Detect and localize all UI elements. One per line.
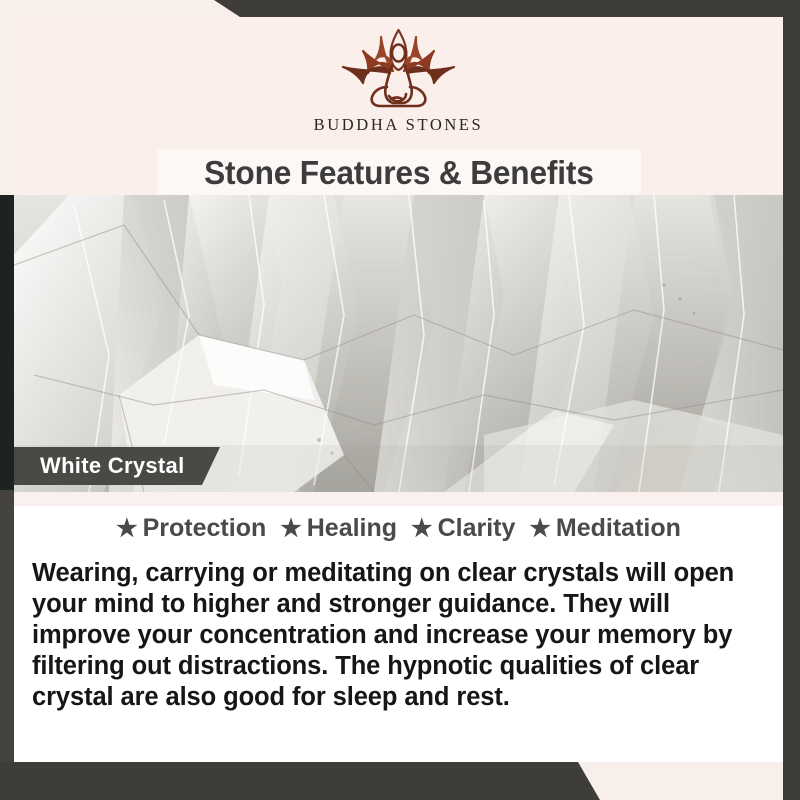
benefit-item-healing: ★ Healing [280,514,397,543]
photo-left-edge-accent [0,195,14,495]
infographic-page: BUDDHA STONES Stone Features & Benefits [0,0,800,800]
content-section: ★ Protection ★ Healing ★ Clarity ★ Medit… [14,492,783,762]
right-edge-accent [783,17,800,800]
benefits-list: ★ Protection ★ Healing ★ Clarity ★ Medit… [14,514,783,543]
benefit-item-meditation: ★ Meditation [529,514,681,543]
page-title: Stone Features & Benefits [204,154,594,192]
star-icon: ★ [280,517,302,541]
brand-logo: BUDDHA STONES [14,25,783,135]
star-icon: ★ [116,517,138,541]
star-icon: ★ [529,517,551,541]
benefit-item-protection: ★ Protection [116,514,266,543]
bottom-edge-accent [0,762,800,800]
photo-caption-badge: White Crystal [14,447,220,485]
benefit-item-clarity: ★ Clarity [411,514,515,543]
benefit-label: Protection [143,514,267,543]
benefit-label: Healing [307,514,397,543]
photo-caption-label: White Crystal [40,453,184,479]
star-icon: ★ [411,517,433,541]
description-paragraph: Wearing, carrying or meditating on clear… [32,558,765,713]
brand-name: BUDDHA STONES [314,115,484,135]
left-edge-accent [0,490,14,800]
benefit-label: Clarity [438,514,516,543]
top-right-corner-accent [0,0,800,17]
page-title-bar: Stone Features & Benefits [157,150,641,196]
benefit-label: Meditation [556,514,681,543]
lotus-meditation-icon [321,25,476,113]
header-section: BUDDHA STONES Stone Features & Benefits [14,17,783,195]
content-top-fade [14,492,783,506]
